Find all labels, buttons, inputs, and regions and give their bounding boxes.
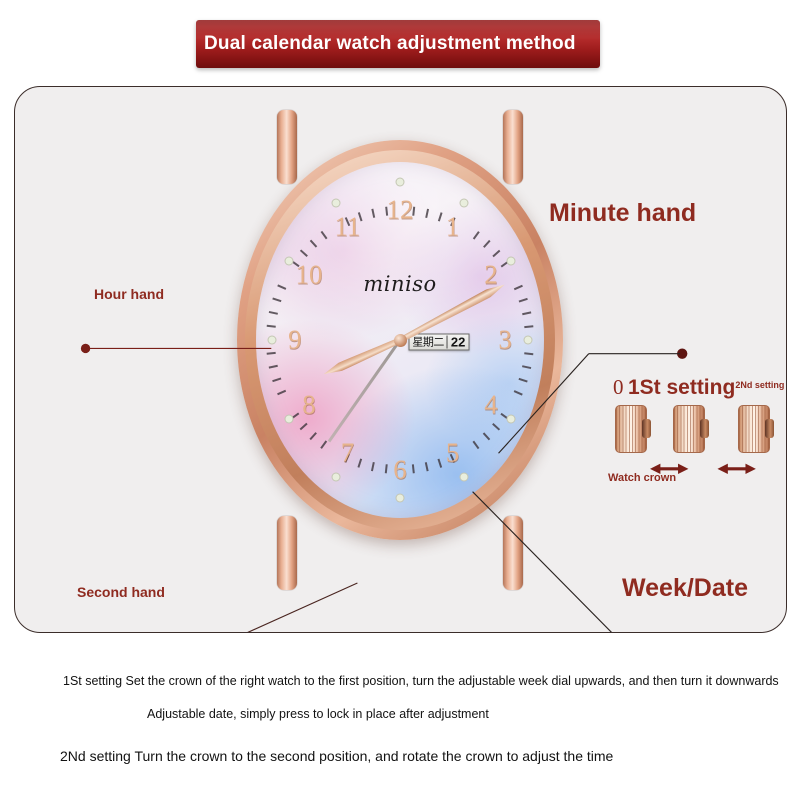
minute-tick (519, 378, 528, 382)
watch-case: 123456789101112 miniso 星期二 22 (237, 140, 563, 540)
minute-tick (522, 365, 531, 368)
minute-leader-dot (677, 348, 687, 358)
date-separator (447, 335, 448, 348)
hour-leader-dot (81, 344, 90, 353)
crown-position-0-icon (615, 405, 647, 453)
minute-tick (310, 240, 317, 248)
watch-lug-bottom-left (277, 516, 297, 590)
minute-tick (272, 378, 281, 382)
day-value: 22 (451, 335, 465, 348)
week-date-label: Week/Date (622, 574, 748, 603)
minute-tick (524, 325, 533, 328)
watch-lug-bottom-right (503, 516, 523, 590)
minute-tick (492, 423, 500, 430)
minute-tick (300, 423, 308, 430)
crown-position-2-icon (738, 405, 770, 453)
hour-numeral-6: 6 (393, 454, 407, 485)
minute-tick (277, 285, 286, 290)
minute-hand-label: Minute hand (549, 199, 696, 228)
watch-crown-label: Watch crown (608, 472, 676, 484)
hour-numeral-2: 2 (484, 260, 498, 291)
minute-tick (492, 250, 500, 257)
crown-first-setting-label: 1St setting (628, 376, 735, 399)
instruction-line-3: 2Nd setting Turn the crown to the second… (60, 748, 613, 764)
hour-numeral-11: 11 (334, 212, 360, 243)
hour-hand-label: Hour hand (94, 286, 164, 302)
hour-numeral-5: 5 (446, 437, 460, 468)
crown-second-setting-label: 2Nd setting (735, 380, 784, 390)
watch-lug-top-right (503, 110, 523, 184)
date-window: 星期二 22 (408, 333, 469, 350)
minute-tick (519, 298, 528, 302)
minute-tick (385, 464, 388, 473)
watch-illustration: 123456789101112 miniso 星期二 22 (220, 102, 580, 602)
minute-tick (425, 462, 428, 471)
weekday-value: 星期二 (412, 336, 444, 347)
minute-tick (358, 459, 362, 468)
hour-numeral-12: 12 (387, 195, 414, 226)
minute-tick (310, 432, 317, 440)
minute-tick (272, 298, 281, 302)
hour-numeral-7: 7 (341, 437, 355, 468)
hour-numeral-9: 9 (288, 325, 302, 356)
lume-dot (524, 336, 533, 345)
instruction-line-1: 1St setting Set the crown of the right w… (63, 674, 779, 688)
hour-numeral-10: 10 (295, 260, 322, 291)
minute-tick (267, 352, 276, 355)
lume-dot (285, 256, 294, 265)
title-banner: Dual calendar watch adjustment method (196, 20, 600, 68)
lume-dot (460, 198, 469, 207)
watch-bezel: 123456789101112 miniso 星期二 22 (245, 150, 555, 530)
minute-tick (371, 462, 374, 471)
crown-position-zero-label: 0 (613, 375, 624, 399)
instruction-line-2: Adjustable date, simply press to lock in… (147, 707, 489, 721)
watch-lug-top-left (277, 110, 297, 184)
minute-tick (412, 464, 415, 473)
crown-setting-labels: 0 1St setting2Nd setting (613, 375, 784, 400)
lume-dot (460, 473, 469, 482)
hour-numeral-4: 4 (484, 389, 498, 420)
lume-dot (331, 473, 340, 482)
minute-tick (522, 311, 531, 314)
minute-tick (300, 250, 308, 257)
lume-dot (506, 256, 515, 265)
lume-dot (396, 177, 405, 186)
second-hand-label: Second hand (77, 584, 165, 600)
lume-dot (506, 415, 515, 424)
minute-tick (269, 311, 278, 314)
lume-dot (267, 336, 276, 345)
crown-arrow-2 (717, 464, 755, 474)
minute-tick (524, 352, 533, 355)
minute-tick (371, 209, 374, 218)
lume-dot (285, 415, 294, 424)
hands-center-cap (394, 334, 407, 347)
minute-tick (438, 212, 442, 221)
minute-tick (269, 365, 278, 368)
minute-tick (277, 390, 286, 395)
minute-tick (438, 459, 442, 468)
brand-logo: miniso (363, 272, 436, 296)
minute-tick (483, 432, 490, 440)
lume-dot (331, 198, 340, 207)
minute-tick (425, 209, 428, 218)
minute-tick (473, 441, 480, 449)
hour-numeral-8: 8 (302, 389, 316, 420)
minute-tick (267, 325, 276, 328)
illustration-panel: 123456789101112 miniso 星期二 22 0 1St sett… (14, 86, 787, 633)
crown-position-1-icon (673, 405, 705, 453)
watch-dial: 123456789101112 miniso 星期二 22 (256, 162, 544, 518)
hour-numeral-1: 1 (446, 212, 460, 243)
minute-tick (514, 285, 523, 290)
minute-tick (321, 231, 328, 239)
minute-tick (321, 441, 328, 449)
minute-tick (514, 390, 523, 395)
minute-tick (483, 240, 490, 248)
hour-numeral-3: 3 (498, 325, 512, 356)
page-title: Dual calendar watch adjustment method (196, 33, 576, 55)
lume-dot (396, 494, 405, 503)
minute-tick (473, 231, 480, 239)
